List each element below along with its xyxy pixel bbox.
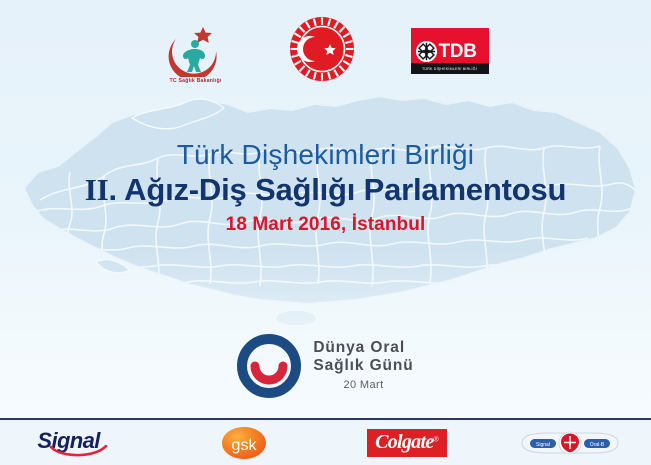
poster-canvas: TC Sağlık Bakanlığı xyxy=(0,0,651,465)
gsk-wordmark: gsk xyxy=(232,437,258,454)
wohd-line-1: Dünya Oral xyxy=(313,339,413,357)
sponsor-cell-gsk: gsk xyxy=(163,420,326,465)
ministry-of-health-icon xyxy=(164,21,228,77)
world-oral-health-day-text: Dünya Oral Sağlık Günü 20 Mart xyxy=(313,334,413,391)
event-title-roman: II xyxy=(85,172,109,207)
pg-left-brand: Signal xyxy=(536,442,550,448)
ministry-of-health-logo: TC Sağlık Bakanlığı xyxy=(159,16,233,84)
smile-ring-icon xyxy=(237,334,301,398)
wohd-date: 20 Mart xyxy=(313,379,413,391)
event-headline: Türk Dişhekimleri Birliği II. Ağız-Diş S… xyxy=(0,140,651,236)
signal-smile-icon xyxy=(49,445,111,459)
event-date-location: 18 Mart 2016, İstanbul xyxy=(0,214,651,236)
colgate-logo: Colgate® xyxy=(367,429,447,457)
sponsor-bar: Signal gsk Colgat xyxy=(0,420,651,465)
pg-oral-care-logo: Signal Oral-B xyxy=(518,430,622,456)
pg-right-brand: Oral-B xyxy=(589,442,604,448)
colgate-trademark: ® xyxy=(434,436,439,443)
tbmm-seal-logo xyxy=(285,16,359,82)
event-title: II. Ağız-Diş Sağlığı Parlamentosu xyxy=(0,172,651,208)
ministry-of-health-caption: TC Sağlık Bakanlığı xyxy=(159,78,233,84)
tdb-logo-box: TDB TÜRK DİŞHEKİMLERİ BİRLİĞİ xyxy=(411,28,489,74)
sponsor-cell-signal: Signal xyxy=(0,420,163,465)
tdb-knot-icon xyxy=(415,40,438,63)
gsk-logo: gsk xyxy=(221,426,267,460)
sponsor-cell-colgate: Colgate® xyxy=(326,420,489,465)
tdb-logo: TDB TÜRK DİŞHEKİMLERİ BİRLİĞİ xyxy=(411,16,493,74)
tbmm-seal-icon xyxy=(289,16,355,82)
sponsor-cell-pg-oral-care: Signal Oral-B xyxy=(488,420,651,465)
tdb-caption: TÜRK DİŞHEKİMLERİ BİRLİĞİ xyxy=(411,63,489,74)
world-oral-health-day-lockup: Dünya Oral Sağlık Günü 20 Mart xyxy=(0,334,651,398)
signal-logo: Signal xyxy=(35,426,127,460)
organization-title: Türk Dişhekimleri Birliği xyxy=(0,140,651,170)
tdb-wordmark: TDB xyxy=(439,42,477,61)
colgate-wordmark: Colgate xyxy=(375,431,433,453)
event-title-rest: . Ağız-Diş Sağlığı Parlamentosu xyxy=(108,172,566,207)
partner-logo-row: TC Sağlık Bakanlığı xyxy=(0,16,651,100)
wohd-line-2: Sağlık Günü xyxy=(313,357,413,375)
